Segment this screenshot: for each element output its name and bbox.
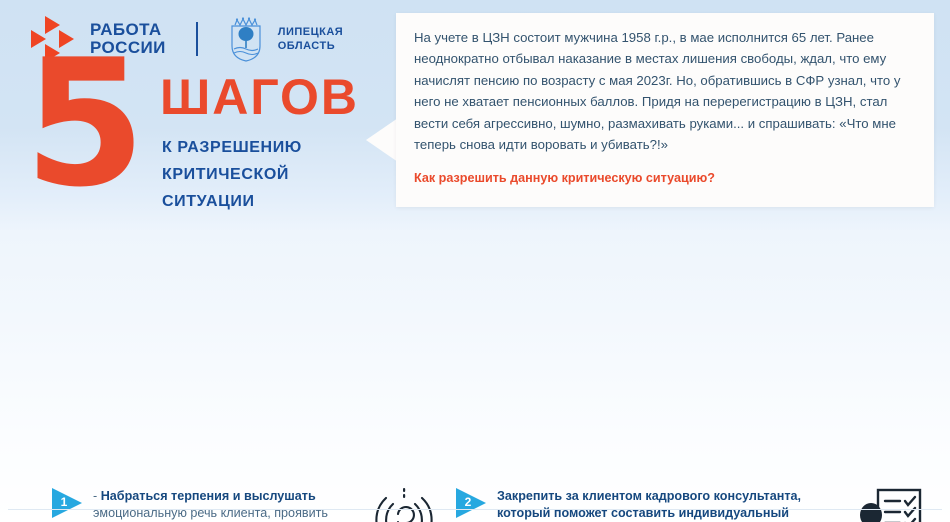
infographic-poster: РАБОТА РОССИИ ЛИПЕЦКАЯ ОБЛАСТЬ — [0, 0, 950, 522]
bottom-divider — [8, 509, 942, 510]
step-number-badge-2: 2 — [456, 488, 488, 518]
poster-header: РАБОТА РОССИИ ЛИПЕЦКАЯ ОБЛАСТЬ — [0, 0, 950, 232]
step-item-1: 1 - Набраться терпения и выслушать эмоци… — [52, 488, 352, 522]
callout-tail — [366, 118, 398, 162]
lipetsk-coat-of-arms-icon — [228, 16, 264, 62]
case-question: Как разрешить данную критическую ситуаци… — [414, 171, 715, 185]
region-name-line2: ОБЛАСТЬ — [278, 39, 343, 53]
headline: ШАГОВ — [160, 72, 359, 122]
case-callout: На учете в ЦЗН состоит мужчина 1958 г.р.… — [396, 13, 934, 207]
logo-divider — [196, 22, 198, 56]
region-name-line1: ЛИПЕЦКАЯ — [278, 25, 343, 39]
step-number-badge-1: 1 — [52, 488, 84, 518]
step-text-1: - Набраться терпения и выслушать эмоцион… — [93, 488, 352, 522]
subheadline: К РАЗРЕШЕНИЮ КРИТИЧЕСКОЙ СИТУАЦИИ — [162, 134, 302, 215]
steps-area: 1 - Набраться терпения и выслушать эмоци… — [0, 232, 950, 522]
step-text-2: Закрепить за клиентом кадрового консульт… — [497, 488, 816, 522]
person-checklist-icon — [848, 484, 926, 522]
subheadline-line1: К РАЗРЕШЕНИЮ — [162, 134, 302, 161]
step-number-2: 2 — [461, 495, 475, 509]
step-item-2: 2 Закрепить за клиентом кадрового консул… — [456, 488, 816, 522]
subheadline-line3: СИТУАЦИИ — [162, 188, 302, 215]
big-step-number: 5 — [24, 50, 146, 200]
step-number-1: 1 — [57, 495, 71, 509]
case-description: На учете в ЦЗН состоит мужчина 1958 г.р.… — [414, 27, 919, 155]
region-name: ЛИПЕЦКАЯ ОБЛАСТЬ — [278, 25, 343, 53]
subheadline-line2: КРИТИЧЕСКОЙ — [162, 161, 302, 188]
ear-listening-icon — [368, 484, 440, 522]
